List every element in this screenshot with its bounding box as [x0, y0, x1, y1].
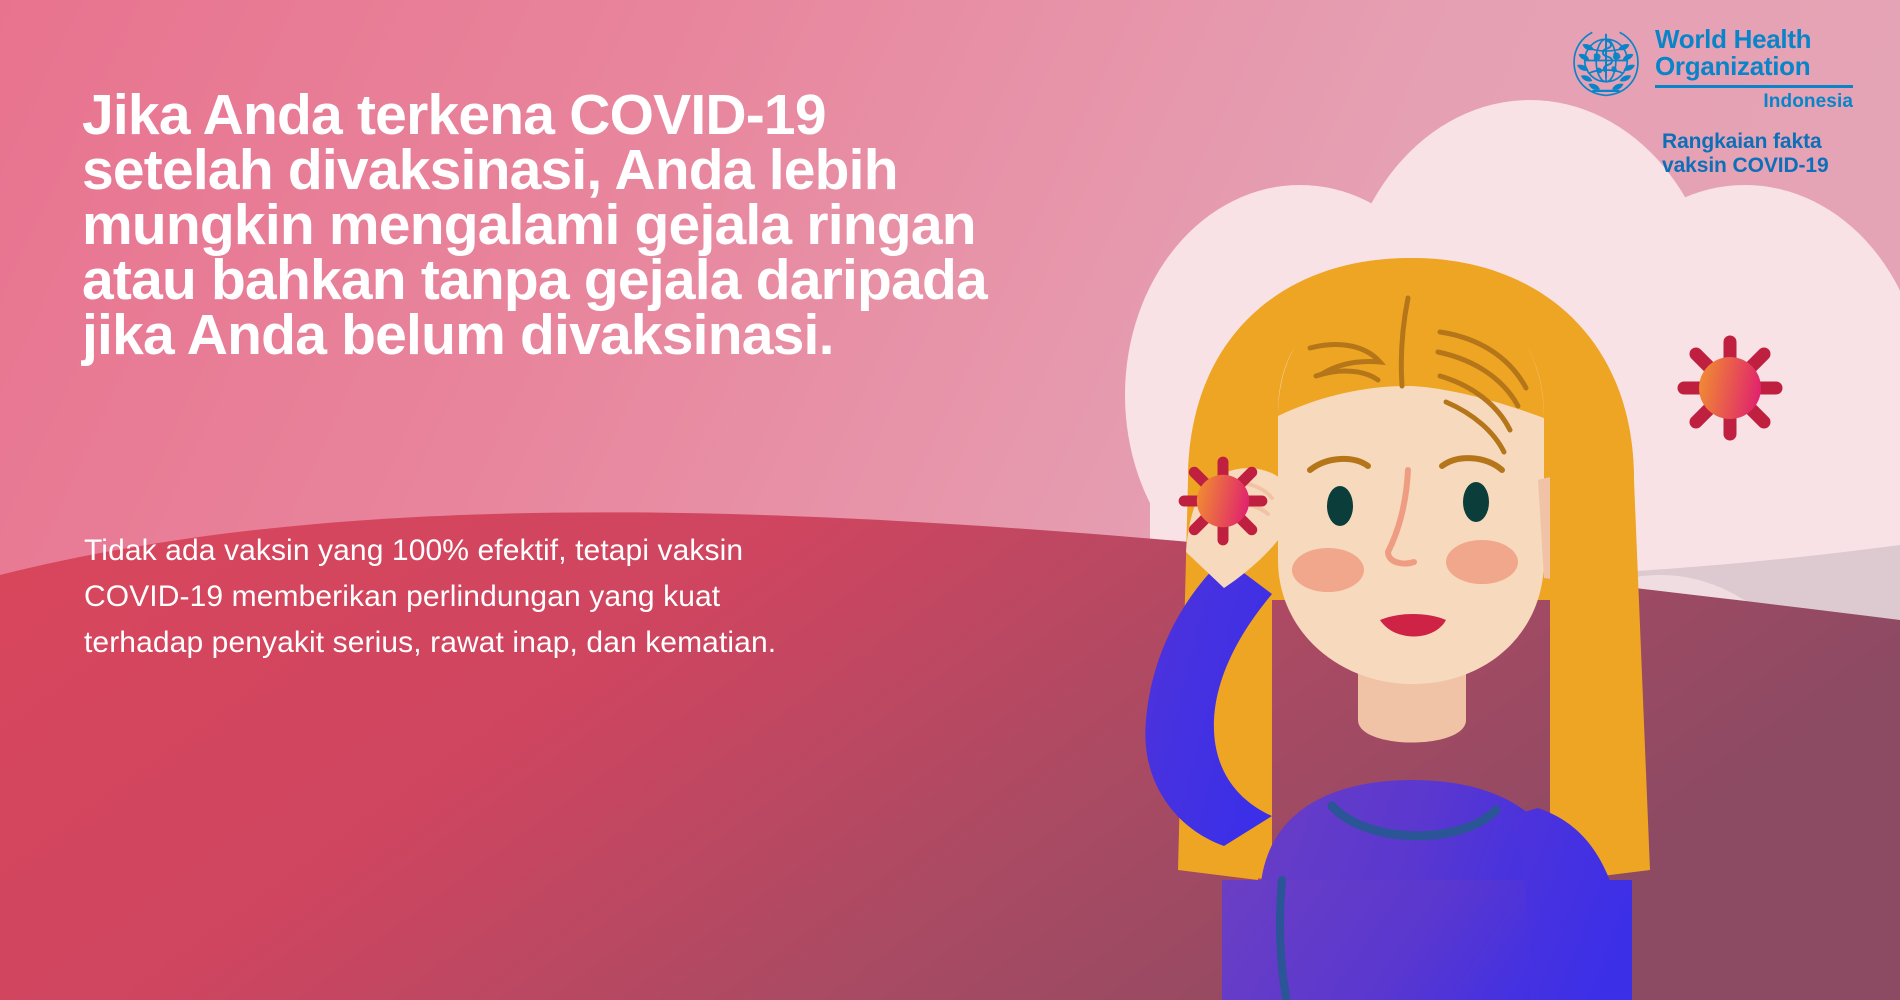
- poster-root: Jika Anda terkena COVID-19 setelah divak…: [0, 0, 1900, 1000]
- subcopy-paragraph: Tidak ada vaksin yang 100% efektif, teta…: [84, 528, 914, 666]
- who-emblem-icon: [1568, 24, 1644, 100]
- who-title-line2: Organization: [1655, 53, 1853, 80]
- who-tagline: Rangkaian fakta vaksin COVID-19: [1662, 130, 1856, 178]
- headline: Jika Anda terkena COVID-19 setelah divak…: [82, 88, 1092, 363]
- who-divider-rule: [1655, 85, 1853, 88]
- virus-particle-icon: [1174, 452, 1272, 550]
- who-title-line1: World Health: [1655, 26, 1853, 53]
- virus-particle-icon: [1672, 330, 1788, 446]
- who-branding: World Health Organization Indonesia Rang…: [1568, 24, 1856, 178]
- who-country-label: Indonesia: [1655, 91, 1853, 113]
- woman-illustration: [1010, 180, 1900, 1000]
